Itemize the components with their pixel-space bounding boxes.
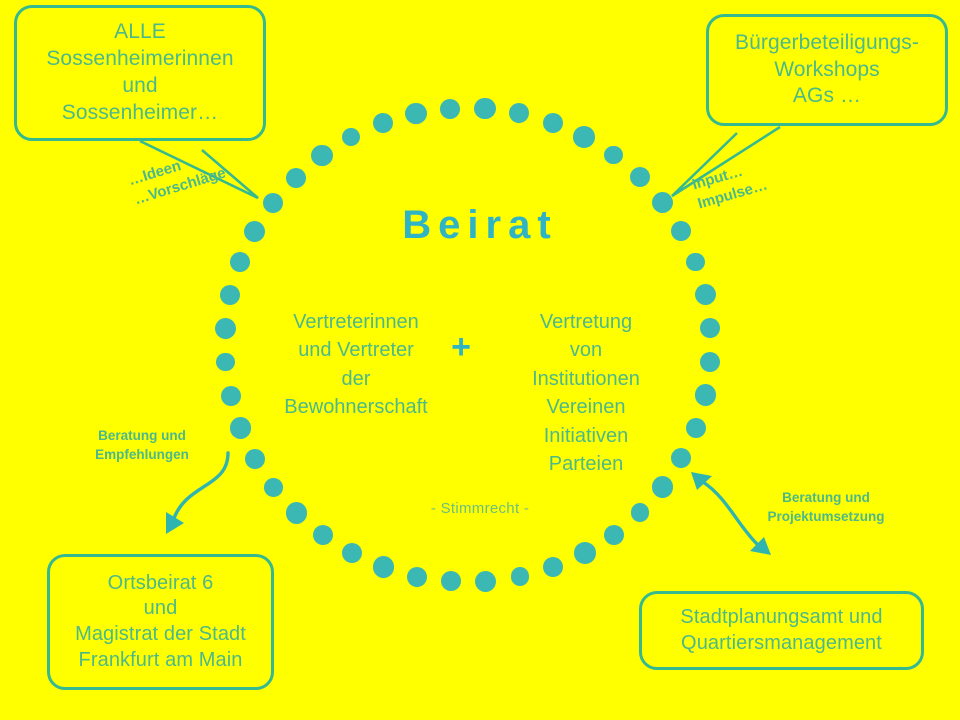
annotation-beratung-proj-line-1: Beratung und [746, 489, 906, 508]
ring-dot [221, 386, 241, 406]
ring-dot [543, 557, 563, 577]
annotation-beratung-empf-line-2: Empfehlungen [78, 446, 206, 465]
page-title-beirat: Beirat [0, 203, 960, 248]
ring-dot [373, 556, 395, 578]
annotation-beratung-projektumsetzung: Beratung und Projektumsetzung [746, 489, 906, 527]
bubble-citizens: ALLE Sossenheimerinnen und Sossenheimer… [14, 5, 266, 141]
column-left-line-3: der [262, 365, 450, 393]
annotation-beratung-proj-line-2: Projektumsetzung [746, 508, 906, 527]
column-left-line-4: Bewohnerschaft [262, 393, 450, 421]
column-right-line-5: Initiativen [492, 422, 680, 450]
ring-dot [230, 417, 252, 439]
bubble-workshops-line-1: Bürgerbeteiligungs- [735, 30, 919, 57]
box-ortsbeirat-line-2: und [144, 596, 178, 622]
ring-dot [440, 99, 460, 119]
bubble-citizens-line-4: Sossenheimer… [62, 100, 219, 127]
box-ortsbeirat-line-4: Frankfurt am Main [79, 648, 243, 674]
annotation-beratung-empfehlungen: Beratung und Empfehlungen [78, 427, 206, 465]
column-right-line-3: Institutionen [492, 365, 680, 393]
ring-dot [311, 145, 333, 167]
ring-dot [686, 253, 705, 272]
ring-dot [604, 146, 623, 165]
ring-dot [475, 571, 497, 593]
column-right-line-6: Parteien [492, 450, 680, 478]
column-right-line-2: von [492, 336, 680, 364]
ring-dot [630, 167, 650, 187]
ring-dot [286, 168, 306, 188]
annotation-beratung-empf-line-1: Beratung und [78, 427, 206, 446]
ring-dot [652, 476, 674, 498]
box-ortsbeirat-line-3: Magistrat der Stadt [75, 622, 246, 648]
bubble-citizens-line-3: und [122, 73, 157, 100]
ring-dot [342, 543, 362, 563]
ring-dot [342, 128, 361, 147]
ring-dot [407, 567, 427, 587]
ring-dot [441, 571, 461, 591]
bubble-workshops: Bürgerbeteiligungs- Workshops AGs … [706, 14, 948, 126]
ring-dot [511, 567, 530, 586]
ring-dot [373, 113, 393, 133]
bubble-workshops-line-2: Workshops [774, 57, 880, 84]
ring-dot [245, 449, 265, 469]
box-ortsbeirat-line-1: Ortsbeirat 6 [108, 571, 214, 597]
column-institutionen: Vertretung von Institutionen Vereinen In… [492, 308, 680, 478]
bubble-workshops-line-3: AGs … [793, 83, 861, 110]
box-stadtplanung-line-1: Stadtplanungsamt und [680, 605, 882, 631]
ring-dot [405, 103, 427, 125]
ring-dot [700, 352, 720, 372]
ring-dot [573, 126, 595, 148]
bubble-citizens-line-1: ALLE [114, 19, 166, 46]
ring-dot [509, 103, 529, 123]
ring-dot [686, 418, 706, 438]
diagram-canvas: ALLE Sossenheimerinnen und Sossenheimer…… [0, 0, 960, 720]
ring-dot [264, 478, 283, 497]
box-ortsbeirat: Ortsbeirat 6 und Magistrat der Stadt Fra… [47, 554, 274, 690]
column-left-line-2: und Vertreter [262, 336, 450, 364]
box-stadtplanung-line-2: Quartiersmanagement [681, 631, 882, 657]
ring-dot [543, 113, 563, 133]
column-bewohnerschaft: Vertreterinnen und Vertreter der Bewohne… [262, 308, 450, 422]
ring-dot [695, 284, 717, 306]
ring-dot [474, 98, 496, 120]
bubble-citizens-line-2: Sossenheimerinnen [46, 46, 233, 73]
ring-dot [220, 285, 240, 305]
ring-dot [216, 353, 235, 372]
ring-dot [215, 318, 237, 340]
ring-dot [313, 525, 333, 545]
column-right-line-4: Vereinen [492, 393, 680, 421]
ring-dot [695, 384, 717, 406]
plus-icon: + [441, 330, 481, 364]
ring-dot [604, 525, 624, 545]
ring-dot [700, 318, 720, 338]
column-right-line-1: Vertretung [492, 308, 680, 336]
ring-dot [574, 542, 596, 564]
column-left-line-1: Vertreterinnen [262, 308, 450, 336]
box-stadtplanung: Stadtplanungsamt und Quartiersmanagement [639, 591, 924, 670]
ring-dot [230, 252, 250, 272]
